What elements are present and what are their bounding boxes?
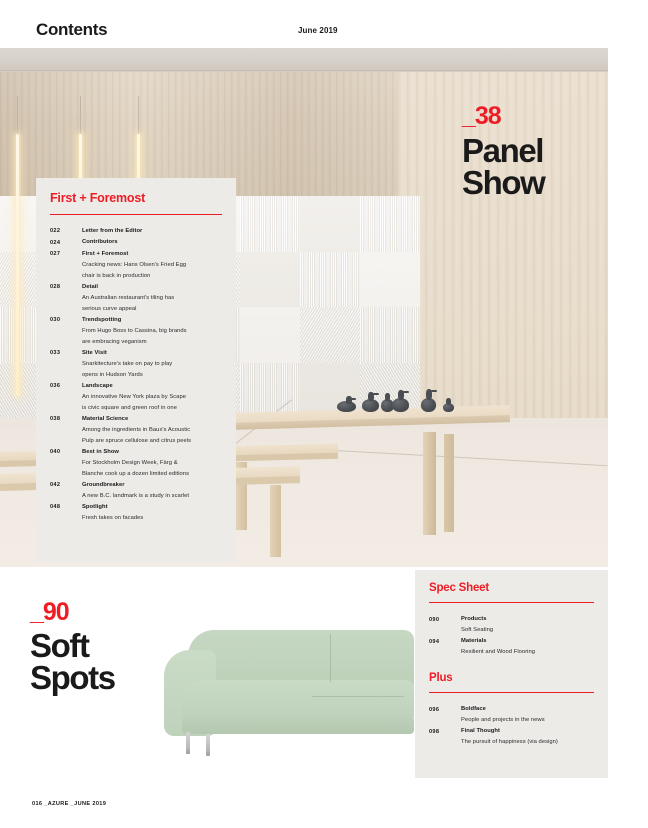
toc-entry[interactable]: 027First + ForemostCracking news: Hans O… (50, 249, 222, 282)
toc-entry-title: Letter from the Editor (82, 226, 222, 237)
photo-ceramic-vessel (421, 389, 437, 412)
spec-sheet-list: 090ProductsSoft Seating094MaterialsResil… (429, 614, 594, 658)
page-header: Contents June 2019 (36, 20, 608, 46)
toc-entry-description-line: is civic square and green roof in one (82, 403, 222, 414)
toc-entry-description-line: Fresh takes on facades (82, 513, 222, 524)
sofa-leg (206, 734, 210, 756)
toc-entry-description-line: An innovative New York plaza by Scape (82, 392, 222, 403)
toc-entry-title: Detail (82, 282, 222, 293)
toc-entry-page-number: 028 (50, 282, 82, 294)
toc-entry-title: Materials (461, 636, 594, 647)
toc-entry-page-number: 036 (50, 381, 82, 393)
photo-ceiling (0, 48, 608, 71)
toc-entry[interactable]: 038Material ScienceAmong the ingredients… (50, 414, 222, 447)
first-foremost-list: 022Letter from the Editor024Contributors… (50, 226, 222, 524)
toc-entry-page-number: 038 (50, 414, 82, 426)
sofa-leg (186, 732, 190, 754)
toc-entry-title: Groundbreaker (82, 480, 222, 491)
toc-entry[interactable]: 090ProductsSoft Seating (429, 614, 594, 636)
toc-entry-title: Spotlight (82, 502, 222, 513)
toc-entry-description-line: opens in Hudson Yards (82, 370, 222, 381)
page-footer: 016 _AZURE _JUNE 2019 (32, 801, 106, 807)
toc-entry-text: BoldfacePeople and projects in the news (461, 704, 594, 726)
toc-entry-description-line: Cracking news: Hans Olsen's Fried Egg (82, 260, 222, 271)
sofa-crease (330, 634, 331, 682)
toc-entry-text: GroundbreakerA new B.C. landmark is a st… (82, 480, 222, 502)
toc-entry-description-line: serious curve appeal (82, 304, 222, 315)
toc-entry-page-number: 096 (429, 704, 461, 716)
toc-entry[interactable]: 022Letter from the Editor (50, 226, 222, 238)
toc-entry-page-number: 022 (50, 226, 82, 238)
toc-entry-text: Contributors (82, 237, 222, 248)
photo-ceramic-vessel (392, 390, 410, 412)
photo-ceramic-vessel (443, 398, 455, 412)
toc-entry-description-line: People and projects in the news (461, 715, 594, 726)
toc-entry-description-line: Resilient and Wood Flooring (461, 647, 594, 658)
toc-entry-description-line: Among the ingredients in Baux's Acoustic (82, 425, 222, 436)
toc-entry-text: Best in ShowFor Stockholm Design Week, F… (82, 447, 222, 480)
toc-entry-text: DetailAn Australian restaurant's tiling … (82, 282, 222, 315)
toc-entry[interactable]: 040Best in ShowFor Stockholm Design Week… (50, 447, 222, 480)
toc-entry-page-number: 040 (50, 447, 82, 459)
toc-entry[interactable]: 042GroundbreakerA new B.C. landmark is a… (50, 480, 222, 502)
toc-entry-text: ProductsSoft Seating (461, 614, 594, 636)
heading-rule (429, 692, 594, 693)
first-foremost-panel: First + Foremost 022Letter from the Edit… (36, 178, 236, 562)
toc-entry-page-number: 024 (50, 237, 82, 249)
top-feature-title: Panel Show (462, 135, 612, 200)
magazine-contents-page: Contents June 2019 (0, 0, 648, 828)
top-feature-title-line1: Panel (462, 135, 612, 167)
heading-rule (429, 602, 594, 603)
toc-entry-text: Site VisitSnarkitecture's take on pay to… (82, 348, 222, 381)
top-feature-page-number: _38 (462, 104, 612, 129)
toc-entry-description-line: Snarkitecture's take on pay to play (82, 359, 222, 370)
first-foremost-heading: First + Foremost (50, 192, 222, 206)
toc-entry[interactable]: 098Final ThoughtThe pursuit of happiness… (429, 726, 594, 748)
toc-entry-page-number: 098 (429, 726, 461, 738)
toc-entry-title: Material Science (82, 414, 222, 425)
toc-entry-text: First + ForemostCracking news: Hans Olse… (82, 249, 222, 282)
toc-entry-page-number: 090 (429, 614, 461, 626)
toc-entry[interactable]: 033Site VisitSnarkitecture's take on pay… (50, 348, 222, 381)
photo-bench-leg (270, 485, 281, 557)
toc-entry-description-line: are embracing veganism (82, 337, 222, 348)
spec-sheet-heading: Spec Sheet (429, 582, 594, 594)
toc-entry-page-number: 033 (50, 348, 82, 360)
toc-entry[interactable]: 036LandscapeAn innovative New York plaza… (50, 381, 222, 414)
toc-entry-text: TrendspottingFrom Hugo Boss to Cassina, … (82, 315, 222, 348)
heading-rule (50, 214, 222, 215)
bottom-feature-sofa-photo (152, 612, 414, 760)
toc-entry[interactable]: 094MaterialsResilient and Wood Flooring (429, 636, 594, 658)
toc-entry-text: LandscapeAn innovative New York plaza by… (82, 381, 222, 414)
toc-entry-text: Material ScienceAmong the ingredients in… (82, 414, 222, 447)
toc-entry[interactable]: 028DetailAn Australian restaurant's tili… (50, 282, 222, 315)
toc-entry-title: Boldface (461, 704, 594, 715)
toc-entry-description-line: A new B.C. landmark is a study in scarle… (82, 491, 222, 502)
spec-sheet-panel: Spec Sheet 090ProductsSoft Seating094Mat… (415, 570, 608, 778)
toc-entry-title: Trendspotting (82, 315, 222, 326)
page-title: Contents (36, 20, 107, 40)
photo-table-leg (444, 434, 454, 532)
toc-entry[interactable]: 030TrendspottingFrom Hugo Boss to Cassin… (50, 315, 222, 348)
toc-entry[interactable]: 024Contributors (50, 237, 222, 249)
toc-entry-title: Landscape (82, 381, 222, 392)
photo-ceramic-vessel (337, 396, 357, 412)
toc-entry-title: First + Foremost (82, 249, 222, 260)
toc-entry-title: Contributors (82, 237, 222, 248)
toc-entry-title: Best in Show (82, 447, 222, 458)
toc-entry-page-number: 030 (50, 315, 82, 327)
toc-entry-description-line: For Stockholm Design Week, Färg & (82, 458, 222, 469)
toc-entry-title: Final Thought (461, 726, 594, 737)
top-feature-title-line2: Show (462, 167, 612, 199)
photo-ceramic-vessel (362, 392, 380, 412)
plus-list: 096BoldfacePeople and projects in the ne… (429, 704, 594, 748)
toc-entry-description-line: An Australian restaurant's tiling has (82, 293, 222, 304)
toc-entry-description-line: The pursuit of happiness (via design) (461, 737, 594, 748)
toc-entry-page-number: 094 (429, 636, 461, 648)
sofa-base (182, 716, 414, 734)
sofa-seat-cushion (182, 680, 414, 720)
toc-entry-description-line: Soft Seating (461, 625, 594, 636)
toc-entry-text: Final ThoughtThe pursuit of happiness (v… (461, 726, 594, 748)
sofa-crease (312, 696, 404, 697)
toc-entry-text: MaterialsResilient and Wood Flooring (461, 636, 594, 658)
toc-entry-text: Letter from the Editor (82, 226, 222, 237)
plus-heading: Plus (429, 672, 594, 684)
toc-entry-page-number: 048 (50, 502, 82, 514)
toc-entry-text: SpotlightFresh takes on facades (82, 502, 222, 524)
toc-entry-page-number: 042 (50, 480, 82, 492)
toc-entry-page-number: 027 (50, 249, 82, 261)
toc-entry[interactable]: 096BoldfacePeople and projects in the ne… (429, 704, 594, 726)
toc-entry-description-line: Pulp are spruce cellulose and citrus pee… (82, 436, 222, 447)
toc-entry[interactable]: 048SpotlightFresh takes on facades (50, 502, 222, 524)
top-feature-headline: _38 Panel Show (462, 104, 612, 200)
toc-entry-description-line: Blanche cook up a dozen limited editions (82, 469, 222, 480)
toc-entry-title: Products (461, 614, 594, 625)
toc-entry-description-line: chair is back in production (82, 271, 222, 282)
photo-pendant-light (16, 96, 19, 396)
toc-entry-description-line: From Hugo Boss to Cassina, big brands (82, 326, 222, 337)
issue-date: June 2019 (298, 26, 338, 35)
toc-entry-title: Site Visit (82, 348, 222, 359)
photo-table-leg (423, 432, 436, 535)
